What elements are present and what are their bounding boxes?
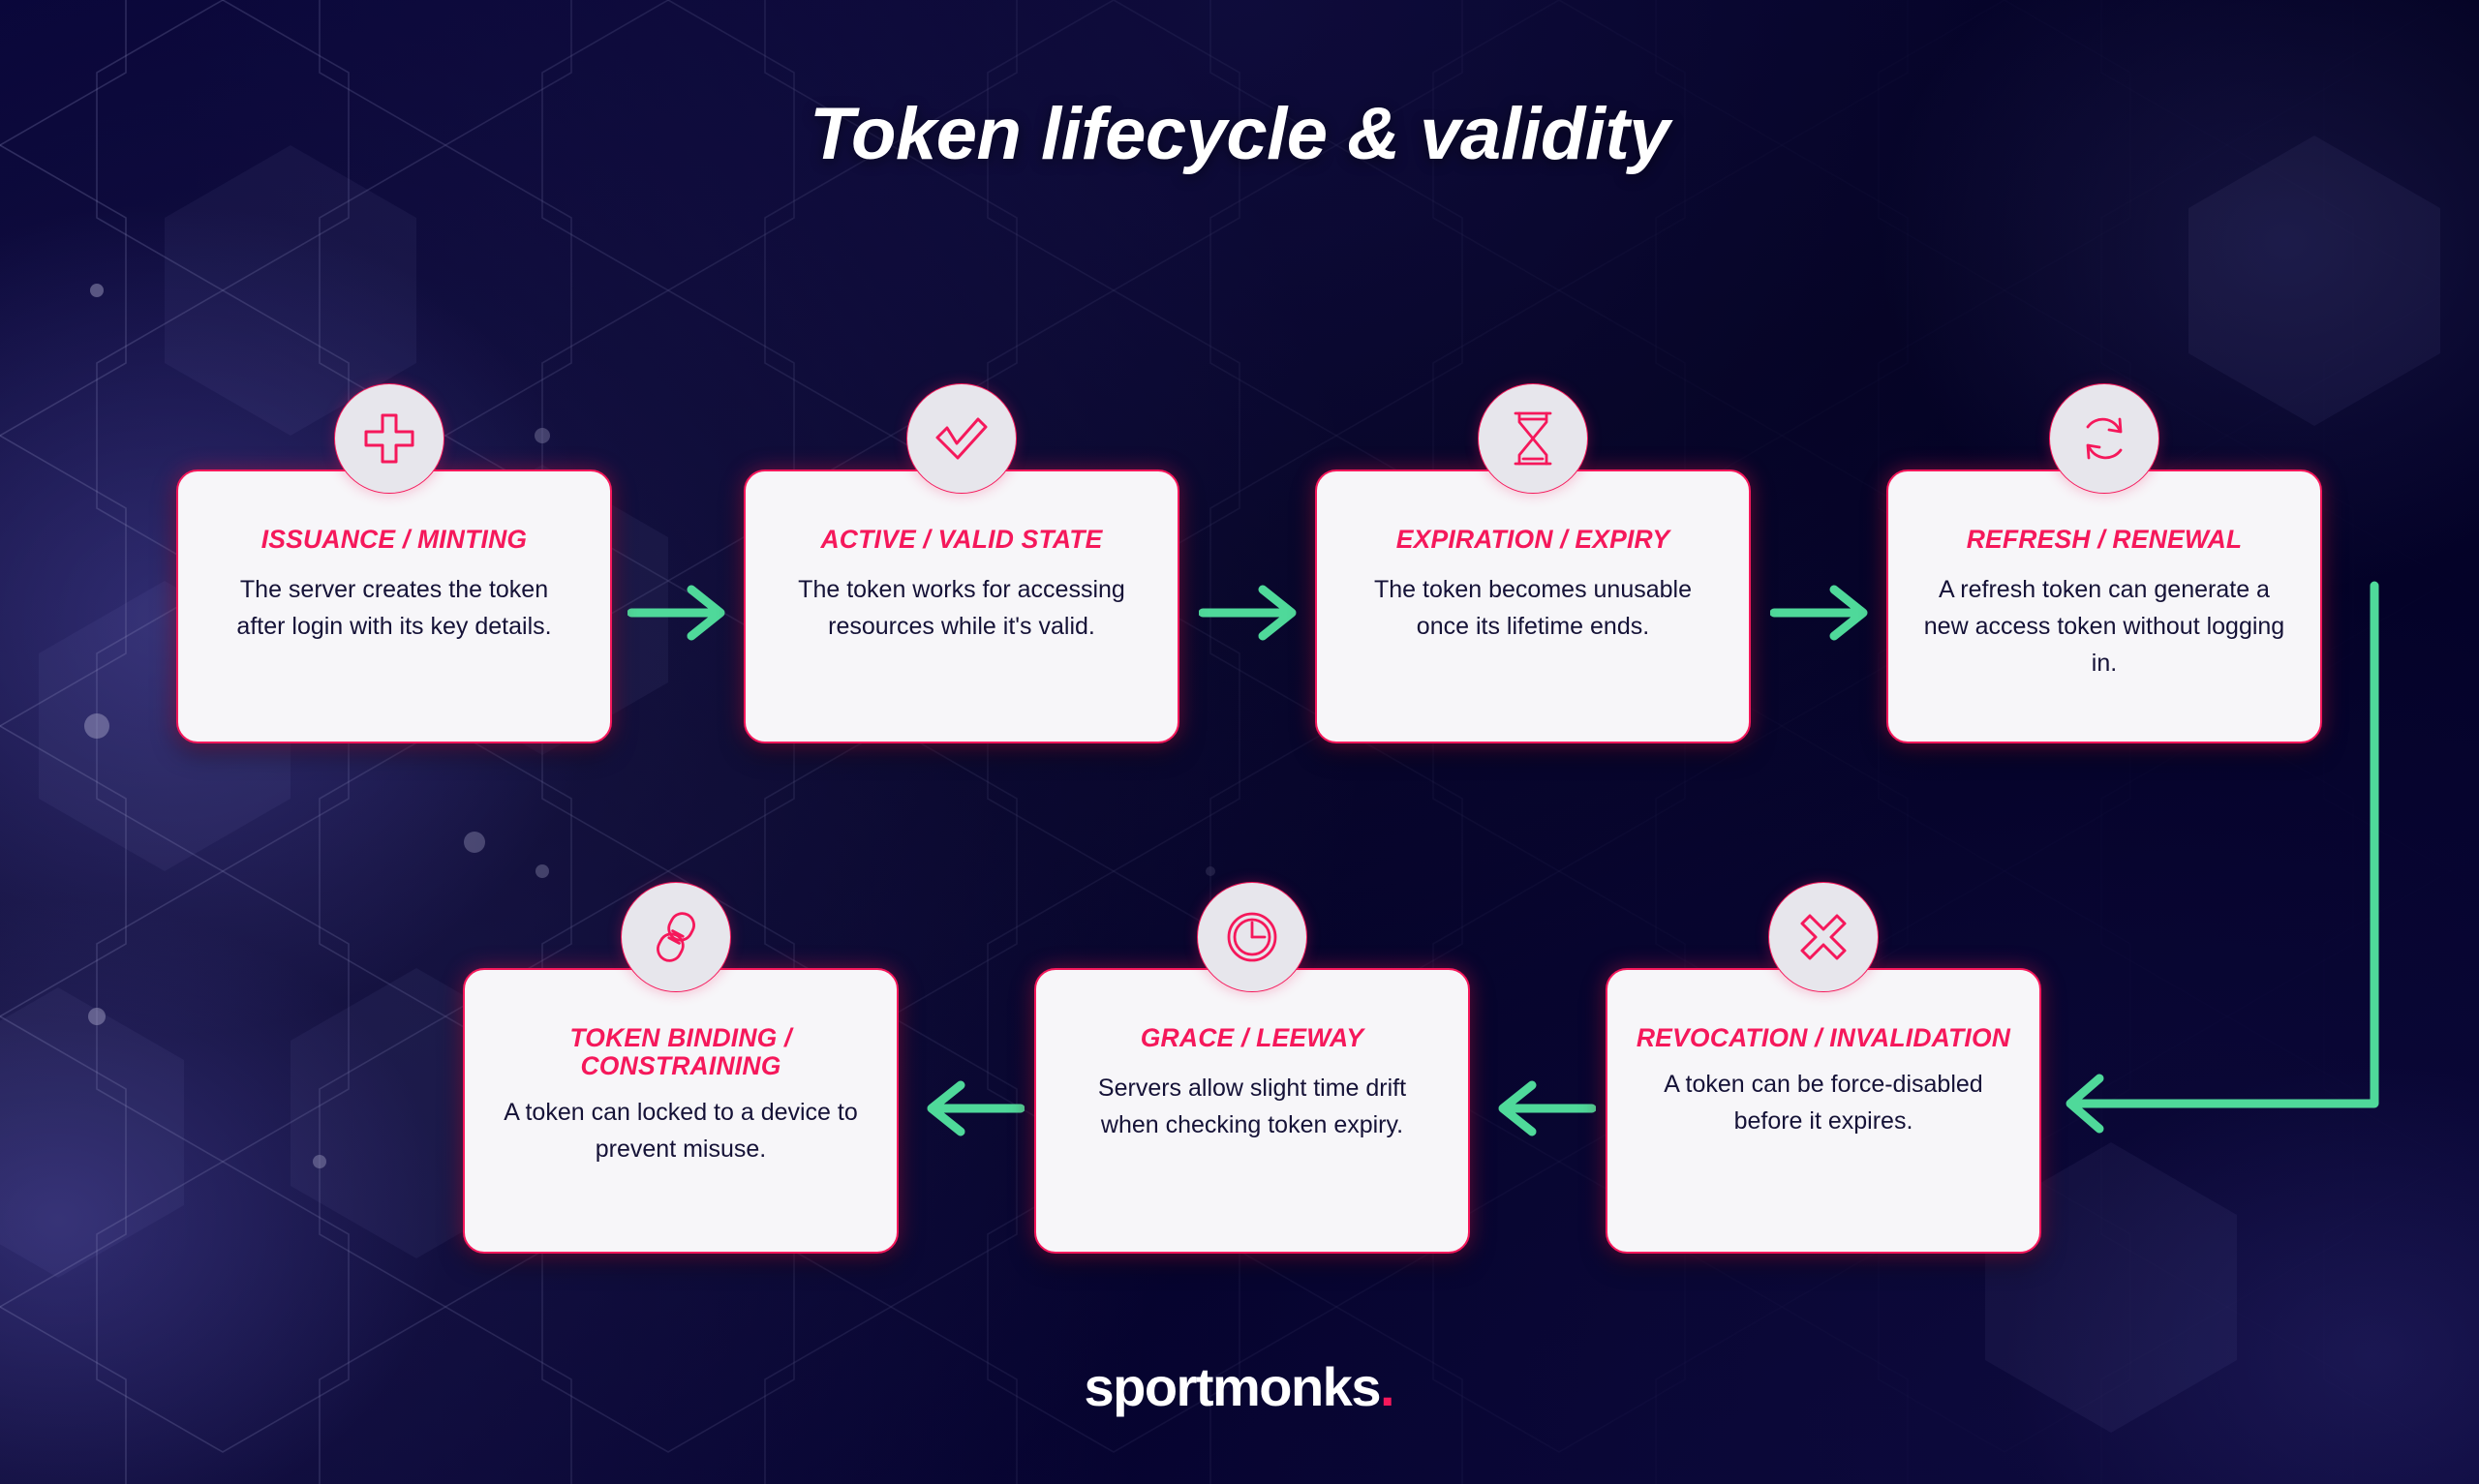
refresh-cycle-icon-bubble: [2049, 383, 2159, 494]
check-icon: [933, 414, 990, 463]
card-token-binding-constraining[interactable]: TOKEN BINDING / CONSTRAINING A token can…: [463, 968, 899, 1254]
card-title: TOKEN BINDING / CONSTRAINING: [465, 1024, 897, 1080]
card-active-valid-state[interactable]: ACTIVE / VALID STATE The token works for…: [744, 469, 1179, 743]
page-title: Token lifecycle & validity: [0, 92, 2479, 176]
plus-icon: [362, 411, 416, 466]
card-expiration-expiry[interactable]: EXPIRATION / EXPIRY The token becomes un…: [1315, 469, 1751, 743]
sportmonks-logo: sportmonks.: [0, 1355, 2479, 1418]
card-grace-leeway[interactable]: GRACE / LEEWAY Servers allow slight time…: [1034, 968, 1470, 1254]
check-icon-bubble: [906, 383, 1017, 494]
arrow-7-to-6: [1489, 1076, 1596, 1140]
card-title: ISSUANCE / MINTING: [178, 526, 610, 554]
card-refresh-renewal[interactable]: REFRESH / RENEWAL A refresh token can ge…: [1886, 469, 2322, 743]
card-title: EXPIRATION / EXPIRY: [1317, 526, 1749, 554]
card-description: A token can locked to a device to preven…: [465, 1094, 897, 1167]
card-description: A refresh token can generate a new acces…: [1888, 571, 2320, 681]
card-issuance-minting[interactable]: ISSUANCE / MINTING The server creates th…: [176, 469, 612, 743]
hourglass-icon-bubble: [1478, 383, 1588, 494]
arrow-6-to-5: [918, 1076, 1025, 1140]
cross-x-icon: [1798, 912, 1849, 962]
clock-icon-bubble: [1197, 882, 1307, 992]
chain-link-icon: [652, 909, 700, 965]
card-description: The token becomes unusable once its life…: [1317, 571, 1749, 645]
card-title: ACTIVE / VALID STATE: [746, 526, 1178, 554]
arrow-1-to-2: [627, 581, 734, 645]
card-title: GRACE / LEEWAY: [1036, 1024, 1468, 1052]
card-title: REVOCATION / INVALIDATION: [1607, 1024, 2039, 1052]
clock-icon: [1225, 910, 1279, 964]
plus-icon-bubble: [334, 383, 444, 494]
cross-x-icon-bubble: [1768, 882, 1879, 992]
logo-dot: .: [1380, 1356, 1395, 1417]
card-description: The token works for accessing resources …: [746, 571, 1178, 645]
chain-link-icon-bubble: [621, 882, 731, 992]
card-revocation-invalidation[interactable]: REVOCATION / INVALIDATION A token can be…: [1606, 968, 2041, 1254]
arrow-2-to-3: [1199, 581, 1305, 645]
hourglass-icon: [1510, 410, 1556, 467]
card-description: A token can be force-disabled before it …: [1607, 1066, 2039, 1139]
arrow-3-to-4: [1770, 581, 1877, 645]
card-description: The server creates the token after login…: [178, 571, 610, 645]
refresh-cycle-icon: [2077, 411, 2131, 466]
logo-wordmark: sportmonks: [1084, 1356, 1380, 1417]
card-description: Servers allow slight time drift when che…: [1036, 1070, 1468, 1143]
card-title: REFRESH / RENEWAL: [1888, 526, 2320, 554]
